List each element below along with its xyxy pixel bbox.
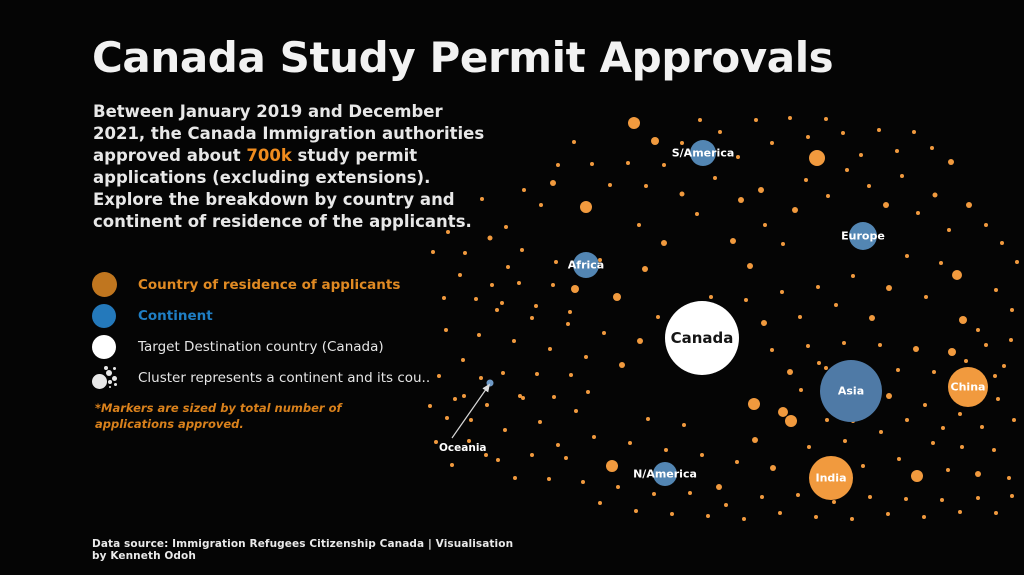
country-dot[interactable] (843, 439, 847, 443)
country-dot[interactable] (713, 176, 717, 180)
country-dot[interactable] (824, 117, 828, 121)
country-dot[interactable] (798, 315, 802, 319)
country-dot[interactable] (984, 223, 988, 227)
country-dot[interactable] (680, 141, 684, 145)
country-dot[interactable] (758, 187, 764, 193)
country-dot[interactable] (792, 207, 798, 213)
country-dot[interactable] (976, 496, 980, 500)
country-dot[interactable] (682, 423, 686, 427)
country-dot[interactable] (534, 304, 538, 308)
country-dot[interactable] (572, 140, 576, 144)
country-dot[interactable] (651, 137, 659, 145)
page-title: Canada Study Permit Approvals (92, 33, 833, 82)
country-dot[interactable] (845, 168, 849, 172)
country-dot[interactable] (976, 328, 980, 332)
country-dot[interactable] (781, 242, 785, 246)
country-dot[interactable] (535, 372, 539, 376)
country-dot[interactable] (735, 460, 739, 464)
country-dot[interactable] (850, 517, 854, 521)
country-dot[interactable] (806, 344, 810, 348)
legend-note: *Markers are sized by total number of ap… (95, 401, 355, 432)
legend-label-continent: Continent (138, 308, 213, 324)
country-dot[interactable] (613, 293, 621, 301)
country-dot[interactable] (634, 509, 638, 513)
bubble-s-america[interactable] (690, 140, 716, 166)
legend-label-target: Target Destination country (Canada) (138, 339, 384, 355)
country-dot[interactable] (637, 338, 643, 344)
country-dot[interactable] (959, 316, 967, 324)
country-dot[interactable] (742, 517, 746, 521)
country-dot[interactable] (747, 263, 753, 269)
country-dot[interactable] (897, 457, 901, 461)
country-dot[interactable] (680, 192, 685, 197)
country-dot[interactable] (584, 355, 588, 359)
country-dot[interactable] (787, 369, 793, 375)
country-dot[interactable] (869, 315, 875, 321)
country-dot[interactable] (1010, 494, 1014, 498)
country-dot[interactable] (602, 331, 606, 335)
country-dot[interactable] (592, 435, 596, 439)
country-dot[interactable] (608, 183, 612, 187)
country-dot[interactable] (778, 511, 782, 515)
country-dot[interactable] (980, 425, 984, 429)
country-dot[interactable] (886, 285, 892, 291)
country-dot[interactable] (996, 397, 1000, 401)
intro-paragraph: Between January 2019 and December 2021, … (93, 101, 488, 233)
country-dot[interactable] (652, 492, 656, 496)
country-dot[interactable] (960, 445, 964, 449)
country-dot[interactable] (817, 361, 821, 365)
country-dot[interactable] (700, 453, 704, 457)
country-dot[interactable] (761, 320, 767, 326)
country-dot[interactable] (569, 373, 573, 377)
country-dot[interactable] (709, 295, 713, 299)
country-dot[interactable] (550, 180, 556, 186)
country-dot[interactable] (958, 510, 962, 514)
country-dot[interactable] (883, 202, 889, 208)
bubble-europe[interactable] (849, 222, 877, 250)
country-dot[interactable] (688, 491, 692, 495)
country-dot[interactable] (930, 146, 934, 150)
country-dot[interactable] (718, 130, 722, 134)
country-dot[interactable] (964, 359, 968, 363)
country-dot[interactable] (752, 437, 758, 443)
country-dot[interactable] (770, 348, 774, 352)
country-dot[interactable] (698, 118, 702, 122)
country-dot[interactable] (556, 443, 560, 447)
country-dot[interactable] (931, 441, 935, 445)
country-dot[interactable] (992, 448, 996, 452)
bubble-india[interactable] (809, 456, 853, 500)
footer-credit: Data source: Immigration Refugees Citize… (92, 538, 520, 562)
country-dot[interactable] (642, 266, 648, 272)
country-dot[interactable] (895, 149, 899, 153)
country-dot[interactable] (993, 374, 997, 378)
country-dot[interactable] (724, 503, 728, 507)
country-dot[interactable] (932, 370, 936, 374)
country-dot[interactable] (946, 468, 950, 472)
country-dot[interactable] (760, 495, 764, 499)
country-dot[interactable] (736, 155, 740, 159)
country-dot[interactable] (1000, 241, 1004, 245)
country-dot[interactable] (706, 514, 710, 518)
country-dot[interactable] (548, 347, 552, 351)
country-dot[interactable] (826, 194, 830, 198)
country-dot[interactable] (832, 500, 836, 504)
country-dot[interactable] (619, 362, 625, 368)
country-dot[interactable] (551, 283, 555, 287)
country-dot[interactable] (799, 388, 803, 392)
country-dot[interactable] (661, 240, 667, 246)
country-dot[interactable] (530, 453, 534, 457)
bubble-n-america[interactable] (653, 462, 677, 486)
country-dot[interactable] (554, 260, 558, 264)
country-dot[interactable] (656, 315, 660, 319)
legend-item-country[interactable]: Country of residence of applicants (92, 269, 430, 300)
country-dot[interactable] (796, 493, 800, 497)
country-dot[interactable] (748, 398, 760, 410)
country-dot[interactable] (1010, 308, 1014, 312)
country-dot[interactable] (730, 238, 736, 244)
country-dot[interactable] (598, 501, 602, 505)
country-dot[interactable] (539, 203, 543, 207)
country-dot[interactable] (628, 117, 640, 129)
country-dot[interactable] (520, 248, 524, 252)
country-dot[interactable] (670, 512, 674, 516)
continent-dot-icon (92, 304, 138, 328)
country-dot[interactable] (754, 118, 758, 122)
country-dot[interactable] (842, 341, 846, 345)
country-dot[interactable] (886, 393, 892, 399)
country-dot[interactable] (571, 285, 579, 293)
country-dot[interactable] (574, 409, 578, 413)
country-dot[interactable] (913, 346, 919, 352)
country-dot[interactable] (948, 159, 954, 165)
left-info-panel: Canada Study Permit Approvals Between Ja… (0, 0, 520, 575)
country-dot[interactable] (788, 116, 792, 120)
country-dot[interactable] (770, 141, 774, 145)
country-dot[interactable] (825, 418, 829, 422)
country-dot[interactable] (770, 465, 776, 471)
country-dot[interactable] (716, 484, 722, 490)
country-dot[interactable] (916, 211, 920, 215)
country-dot[interactable] (941, 426, 945, 430)
legend-item-target[interactable]: Target Destination country (Canada) (92, 331, 430, 362)
country-dot[interactable] (1009, 338, 1013, 342)
country-dot[interactable] (778, 407, 788, 417)
country-dot[interactable] (816, 285, 820, 289)
country-dot[interactable] (924, 295, 928, 299)
country-dot[interactable] (586, 390, 590, 394)
country-dot[interactable] (886, 512, 890, 516)
country-dot[interactable] (1015, 260, 1019, 264)
country-dot[interactable] (896, 368, 900, 372)
bubble-asia[interactable] (820, 360, 882, 422)
country-dot[interactable] (952, 270, 962, 280)
country-dot[interactable] (564, 456, 568, 460)
country-dot[interactable] (646, 417, 650, 421)
country-dot-icon (92, 272, 138, 297)
country-dot[interactable] (868, 495, 872, 499)
intro-highlight-value: 700k (246, 146, 291, 165)
country-dot[interactable] (637, 223, 641, 227)
country-dot[interactable] (966, 202, 972, 208)
country-dot[interactable] (939, 261, 943, 265)
legend: Country of residence of applicants Conti… (92, 269, 430, 393)
country-dot[interactable] (947, 228, 951, 232)
country-dot[interactable] (814, 515, 818, 519)
country-dot[interactable] (664, 448, 668, 452)
country-dot[interactable] (879, 430, 883, 434)
country-dot[interactable] (841, 131, 845, 135)
country-dot[interactable] (851, 274, 855, 278)
country-dot[interactable] (994, 288, 998, 292)
country-dot[interactable] (923, 403, 927, 407)
visualization-canvas: CanadaAsiaIndiaChinaEuropeS/AmericaAfric… (0, 0, 1024, 575)
country-dot[interactable] (644, 184, 648, 188)
country-dot[interactable] (933, 193, 938, 198)
country-dot[interactable] (809, 150, 825, 166)
country-dot[interactable] (900, 174, 904, 178)
country-dot[interactable] (522, 188, 526, 192)
country-dot[interactable] (804, 178, 808, 182)
country-dot[interactable] (556, 163, 560, 167)
country-dot[interactable] (807, 445, 811, 449)
country-dot[interactable] (744, 298, 748, 302)
country-dot[interactable] (861, 464, 865, 468)
country-dot[interactable] (662, 163, 666, 167)
country-dot[interactable] (738, 197, 744, 203)
country-dot[interactable] (859, 153, 863, 157)
country-dot[interactable] (948, 348, 956, 356)
country-dot[interactable] (958, 412, 962, 416)
country-dot[interactable] (628, 441, 632, 445)
country-dot[interactable] (530, 316, 534, 320)
country-dot[interactable] (552, 395, 556, 399)
country-dot[interactable] (912, 130, 916, 134)
country-dot[interactable] (616, 485, 620, 489)
cluster-icon (92, 366, 138, 390)
country-dot[interactable] (984, 343, 988, 347)
legend-label-country: Country of residence of applicants (138, 277, 400, 293)
country-dot[interactable] (566, 322, 570, 326)
country-dot[interactable] (780, 290, 784, 294)
country-dot[interactable] (834, 303, 838, 307)
country-dot[interactable] (911, 470, 923, 482)
country-dot[interactable] (806, 135, 810, 139)
country-dot[interactable] (763, 223, 767, 227)
country-dot[interactable] (785, 415, 797, 427)
legend-item-cluster[interactable]: Cluster represents a continent and its c… (92, 362, 430, 393)
country-dot[interactable] (994, 511, 998, 515)
country-dot[interactable] (1007, 476, 1011, 480)
target-dot-icon (92, 335, 138, 359)
bubble-canada[interactable] (665, 301, 739, 375)
country-dot[interactable] (590, 162, 594, 166)
country-dot[interactable] (975, 471, 981, 477)
legend-label-cluster: Cluster represents a continent and its c… (138, 370, 430, 386)
country-dot[interactable] (695, 212, 699, 216)
country-dot[interactable] (580, 201, 592, 213)
country-dot[interactable] (940, 498, 944, 502)
country-dot[interactable] (547, 477, 551, 481)
country-dot[interactable] (904, 497, 908, 501)
country-dot[interactable] (877, 128, 881, 132)
country-dot[interactable] (1012, 418, 1016, 422)
country-dot[interactable] (922, 515, 926, 519)
country-dot[interactable] (626, 161, 630, 165)
bubble-china[interactable] (948, 367, 988, 407)
country-dot[interactable] (1002, 364, 1006, 368)
country-dot[interactable] (606, 460, 618, 472)
country-dot[interactable] (538, 420, 542, 424)
country-dot[interactable] (581, 480, 585, 484)
country-dot[interactable] (867, 184, 871, 188)
country-dot[interactable] (905, 418, 909, 422)
country-dot[interactable] (878, 343, 882, 347)
country-dot[interactable] (568, 310, 572, 314)
bubble-africa[interactable] (573, 252, 599, 278)
country-dot[interactable] (905, 254, 909, 258)
legend-item-continent[interactable]: Continent (92, 300, 430, 331)
